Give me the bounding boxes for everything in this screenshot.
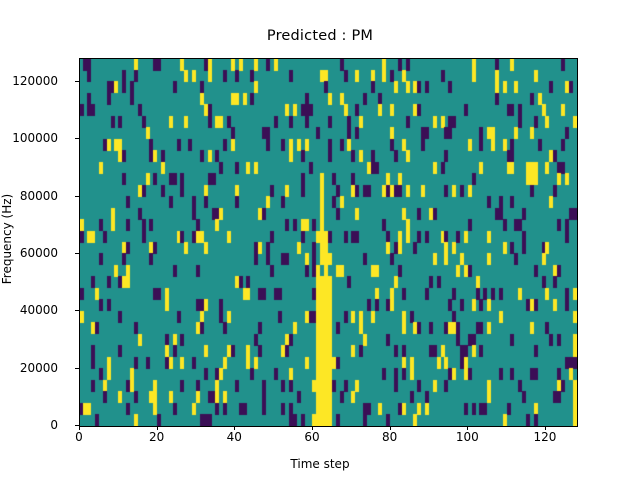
x-tick-mark: [312, 426, 313, 430]
x-tick-label: 80: [360, 430, 420, 444]
chart-title: Predicted : PM: [0, 28, 640, 44]
y-tick-mark: [75, 81, 79, 82]
heatmap-canvas[interactable]: [80, 59, 577, 426]
x-tick-label: 20: [127, 430, 187, 444]
y-tick-label: 100000: [0, 131, 58, 145]
x-tick-mark: [234, 426, 235, 430]
y-tick-mark: [75, 138, 79, 139]
y-tick-label: 120000: [0, 74, 58, 88]
figure: Predicted : PM Frequency (Hz) Time step …: [0, 0, 640, 480]
y-tick-mark: [75, 196, 79, 197]
x-tick-label: 120: [515, 430, 575, 444]
x-tick-label: 60: [282, 430, 342, 444]
y-tick-label: 20000: [0, 361, 58, 375]
heatmap-axes[interactable]: [79, 58, 578, 427]
x-tick-mark: [545, 426, 546, 430]
x-tick-mark: [79, 426, 80, 430]
x-tick-label: 100: [437, 430, 497, 444]
y-tick-mark: [75, 253, 79, 254]
y-tick-label: 60000: [0, 246, 58, 260]
x-tick-label: 0: [49, 430, 109, 444]
x-axis-label: Time step: [0, 457, 640, 471]
x-tick-mark: [467, 426, 468, 430]
x-tick-mark: [390, 426, 391, 430]
y-tick-label: 40000: [0, 303, 58, 317]
y-tick-mark: [75, 368, 79, 369]
y-axis-label: Frequency (Hz): [0, 0, 14, 479]
y-tick-label: 80000: [0, 189, 58, 203]
y-tick-mark: [75, 310, 79, 311]
x-tick-mark: [157, 426, 158, 430]
x-tick-label: 40: [204, 430, 264, 444]
